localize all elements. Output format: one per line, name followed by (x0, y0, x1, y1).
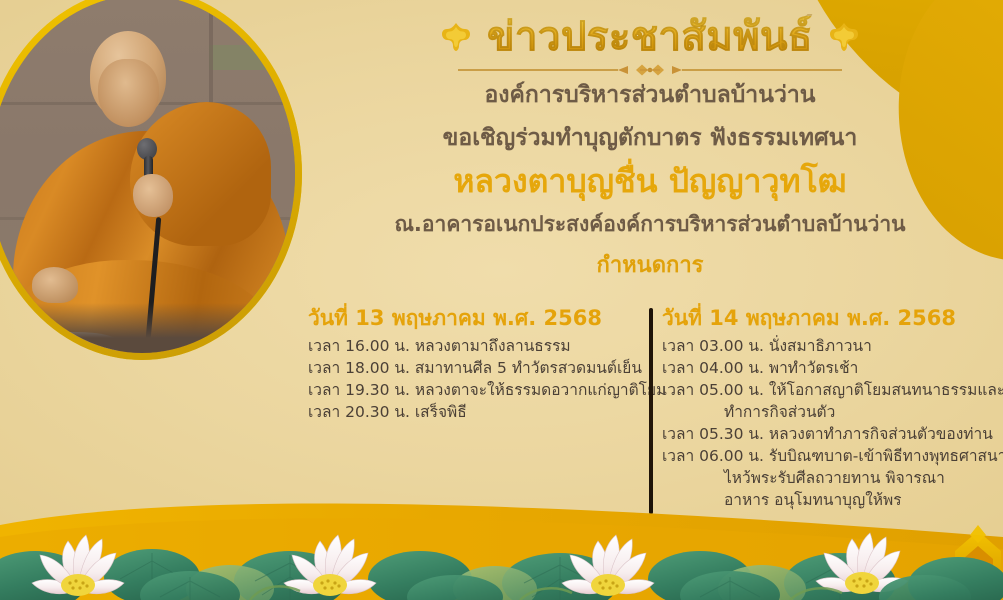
day1-title: วันที่ 13 พฤษภาคม พ.ศ. 2568 (308, 306, 648, 331)
day1-item: เวลา 18.00 น. สมาทานศีล 5 ทำวัตรสวดมนต์เ… (308, 357, 648, 379)
title-row: ข่าวประชาสัมพันธ์ (300, 16, 1000, 58)
monk-name: หลวงตาบุญชื่น ปัญญาวุทโฒ (300, 162, 1000, 200)
venue-line: ณ.อาคารอเนกประสงค์องค์การบริหารส่วนตำบลบ… (300, 210, 1000, 238)
ornamental-divider-icon (450, 62, 850, 78)
poster-canvas: ข่าวประชาสัมพันธ์ องค์การบริหารส่วนตำบ (0, 0, 1003, 600)
day2-item: เวลา 05.00 น. ให้โอกาสญาติโยมสนทนาธรรมแล… (662, 379, 1002, 401)
day2-item: เวลา 05.30 น. หลวงตาทำภารกิจส่วนตัวของท่… (662, 423, 1002, 445)
day1-item: เวลา 19.30 น. หลวงตาจะให้ธรรมดอวากแก่ญาต… (308, 379, 648, 401)
page-title: ข่าวประชาสัมพันธ์ (487, 16, 813, 58)
day2-title: วันที่ 14 พฤษภาคม พ.ศ. 2568 (662, 306, 1002, 331)
invitation-line: ขอเชิญร่วมทำบุญตักบาตร ฟังธรรมเทศนา (300, 123, 1000, 154)
photo-image (0, 0, 295, 353)
day2-item: เวลา 06.00 น. รับบิณฑบาต-เข้าพิธีทางพุทธ… (662, 445, 1002, 467)
day1-item-list: เวลา 16.00 น. หลวงตามาถึงลานธรรมเวลา 18.… (308, 335, 648, 423)
quatrefoil-icon (829, 22, 859, 52)
organization-name: องค์การบริหารส่วนตำบลบ้านว่าน (300, 80, 1000, 111)
day1-item: เวลา 20.30 น. เสร็จพิธี (308, 401, 648, 423)
quatrefoil-icon (441, 22, 471, 52)
day2-item: เวลา 04.00 น. พาทำวัตรเช้า (662, 357, 1002, 379)
agenda-label: กำหนดการ (300, 247, 1000, 282)
day2-item: เวลา 03.00 น. นั่งสมาธิภาวนา (662, 335, 1002, 357)
day2-item: ทำการกิจส่วนตัว (662, 401, 1002, 423)
day1-item: เวลา 16.00 น. หลวงตามาถึงลานธรรม (308, 335, 648, 357)
header-block: ข่าวประชาสัมพันธ์ องค์การบริหารส่วนตำบ (300, 16, 1000, 282)
lotus-flower-band (0, 485, 1003, 600)
monk-photo-circle (0, 0, 302, 360)
